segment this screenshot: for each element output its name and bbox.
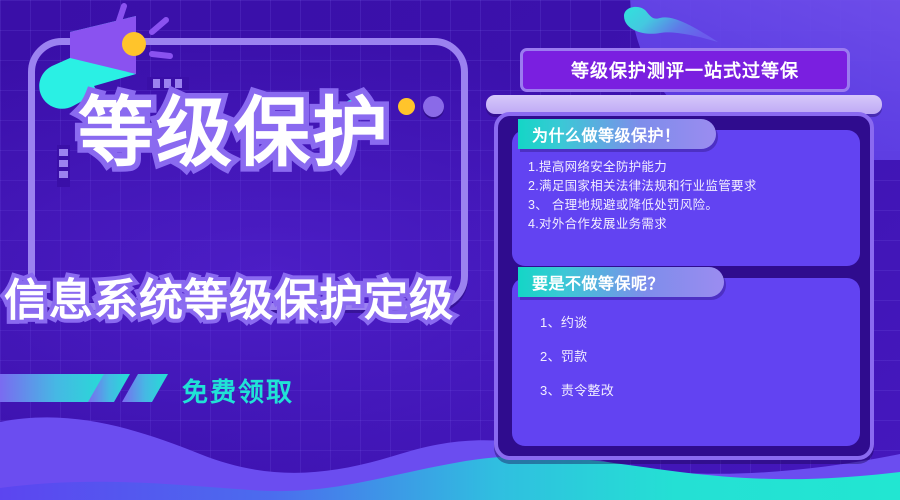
info-panel: 等级保护测评一站式过等保 为什么做等级保护！ 1.提高网络安全防护能力 2.满足…	[486, 48, 882, 460]
list-item: 1.提高网络安全防护能力	[528, 158, 860, 177]
list-item: 3、责令整改	[540, 374, 860, 408]
arrow-stripes-icon	[0, 372, 170, 404]
section-badge-consequences-label: 要是不做等保呢？	[518, 270, 664, 294]
cta-button[interactable]: 免费领取	[182, 372, 294, 409]
list-item: 3、 合理地规避或降低处罚风险。	[528, 196, 860, 215]
list-item: 1、约谈	[540, 306, 860, 340]
section-badge-consequences: 要是不做等保呢？	[518, 267, 724, 297]
section-card-why: 为什么做等级保护！ 1.提高网络安全防护能力 2.满足国家相关法律法规和行业监管…	[512, 130, 860, 266]
promo-banner: 等级保护 信息系统等级保护定级 免费领取 等级保护测评一站式过等保 为什么做等级…	[0, 0, 900, 500]
panel-title-bar: 等级保护测评一站式过等保	[520, 48, 850, 92]
purple-dot-icon	[423, 96, 444, 117]
list-item: 4.对外合作发展业务需求	[528, 215, 860, 234]
why-list: 1.提高网络安全防护能力 2.满足国家相关法律法规和行业监管要求 3、 合理地规…	[512, 158, 860, 234]
section-badge-why-label: 为什么做等级保护！	[518, 122, 681, 146]
consequences-list: 1、约谈 2、罚款 3、责令整改	[512, 306, 860, 408]
swoosh-ribbon-icon	[620, 2, 740, 48]
yellow-dot-icon	[398, 98, 415, 115]
panel-title-text: 等级保护测评一站式过等保	[571, 57, 799, 83]
panel-body: 为什么做等级保护！ 1.提高网络安全防护能力 2.满足国家相关法律法规和行业监管…	[494, 112, 874, 460]
section-badge-why: 为什么做等级保护！	[518, 119, 716, 149]
page-subtitle: 信息系统等级保护定级	[4, 277, 454, 325]
list-item: 2.满足国家相关法律法规和行业监管要求	[528, 177, 860, 196]
frame-dashes-vertical	[59, 149, 68, 178]
list-item: 2、罚款	[540, 340, 860, 374]
section-card-consequences: 要是不做等保呢？ 1、约谈 2、罚款 3、责令整改	[512, 278, 860, 446]
page-title: 等级保护	[78, 96, 390, 172]
